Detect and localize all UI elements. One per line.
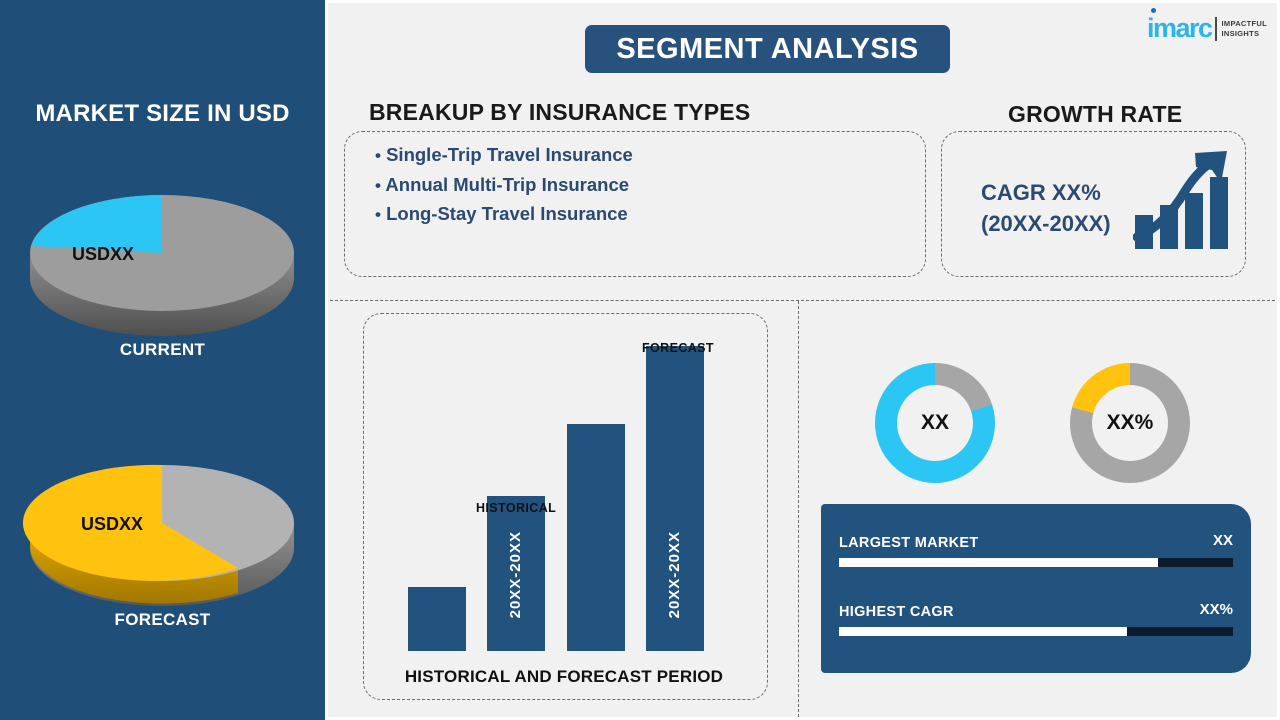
logo-dot-icon xyxy=(1151,8,1156,13)
highest-cagr-donut: XX% xyxy=(1070,363,1190,483)
bar-4-top-label: FORECAST xyxy=(642,341,714,355)
bar-2-range-label: 20XX-20XX xyxy=(507,531,524,618)
stat-progress-fill xyxy=(839,627,1127,636)
infographic-root: MARKET SIZE IN USD USDXX xyxy=(0,0,1280,720)
bar-3 xyxy=(567,424,625,651)
forecast-pie-chart: USDXX xyxy=(0,430,325,610)
list-item: • Long-Stay Travel Insurance xyxy=(375,200,633,230)
cagr-line-2: (20XX-20XX) xyxy=(981,208,1111,239)
forecast-pie-group: USDXX FORECAST xyxy=(0,430,325,630)
main-panel: SEGMENT ANALYSIS imarc IMPACTFUL INSIGHT… xyxy=(328,3,1277,717)
growth-arrow-icon xyxy=(1133,145,1233,257)
stat-label: HIGHEST CAGR xyxy=(839,604,954,620)
logo-tagline: IMPACTFUL INSIGHTS xyxy=(1222,15,1267,39)
logo-tagline-line1: IMPACTFUL xyxy=(1222,19,1267,29)
breakup-heading: BREAKUP BY INSURANCE TYPES xyxy=(369,99,750,126)
current-pie-caption: CURRENT xyxy=(0,340,325,360)
sidebar-title: MARKET SIZE IN USD xyxy=(0,100,325,128)
growth-heading: GROWTH RATE xyxy=(1008,101,1182,128)
highest-cagr-donut-value: XX% xyxy=(1092,385,1168,461)
forecast-pie-svg: USDXX xyxy=(0,430,325,610)
logo-tagline-line2: INSIGHTS xyxy=(1222,29,1267,39)
cagr-text: CAGR XX% (20XX-20XX) xyxy=(981,177,1111,239)
stat-progress-track xyxy=(839,627,1233,636)
period-bar-chart: HISTORICAL 20XX-20XX FORECAST 20XX-20XX … xyxy=(363,313,765,697)
bar-2-top-label: HISTORICAL xyxy=(476,501,556,515)
period-axis-title: HISTORICAL AND FORECAST PERIOD xyxy=(363,667,765,687)
bullet-icon: • xyxy=(375,205,381,224)
bullet-icon: • xyxy=(375,176,381,195)
stat-progress-track xyxy=(839,558,1233,567)
stat-value: XX xyxy=(1213,532,1233,549)
stat-label: LARGEST MARKET xyxy=(839,535,979,551)
stat-progress-fill xyxy=(839,558,1158,567)
stat-row-largest-market: LARGEST MARKET XX xyxy=(839,534,1233,567)
vertical-divider xyxy=(798,301,799,717)
stat-value: XX% xyxy=(1200,601,1233,618)
stats-panel: LARGEST MARKET XX HIGHEST CAGR XX% xyxy=(821,504,1251,673)
bar-1 xyxy=(408,587,466,651)
largest-market-donut-value: XX xyxy=(897,385,973,461)
imarc-logo: imarc IMPACTFUL INSIGHTS xyxy=(1147,15,1267,42)
sidebar: MARKET SIZE IN USD USDXX xyxy=(0,0,325,720)
logo-divider xyxy=(1215,17,1217,41)
breakup-list: • Single-Trip Travel Insurance • Annual … xyxy=(375,141,633,230)
horizontal-divider xyxy=(330,300,1275,301)
page-title: SEGMENT ANALYSIS xyxy=(585,25,950,73)
forecast-pie-value: USDXX xyxy=(81,514,143,534)
list-item: • Single-Trip Travel Insurance xyxy=(375,141,633,171)
largest-market-donut: XX xyxy=(875,363,995,483)
bullet-icon: • xyxy=(375,146,381,165)
current-pie-value: USDXX xyxy=(72,244,134,264)
list-item-label: Single-Trip Travel Insurance xyxy=(386,144,633,165)
stat-row-highest-cagr: HIGHEST CAGR XX% xyxy=(839,603,1233,636)
current-pie-group: USDXX CURRENT xyxy=(0,160,325,360)
current-pie-chart: USDXX xyxy=(0,160,325,340)
list-item-label: Long-Stay Travel Insurance xyxy=(386,203,628,224)
list-item: • Annual Multi-Trip Insurance xyxy=(375,171,633,201)
logo-wordmark: imarc xyxy=(1147,15,1212,42)
current-pie-svg: USDXX xyxy=(0,160,325,340)
bar-4-range-label: 20XX-20XX xyxy=(666,531,683,618)
forecast-pie-caption: FORECAST xyxy=(0,610,325,630)
cagr-line-1: CAGR XX% xyxy=(981,177,1111,208)
list-item-label: Annual Multi-Trip Insurance xyxy=(385,174,629,195)
